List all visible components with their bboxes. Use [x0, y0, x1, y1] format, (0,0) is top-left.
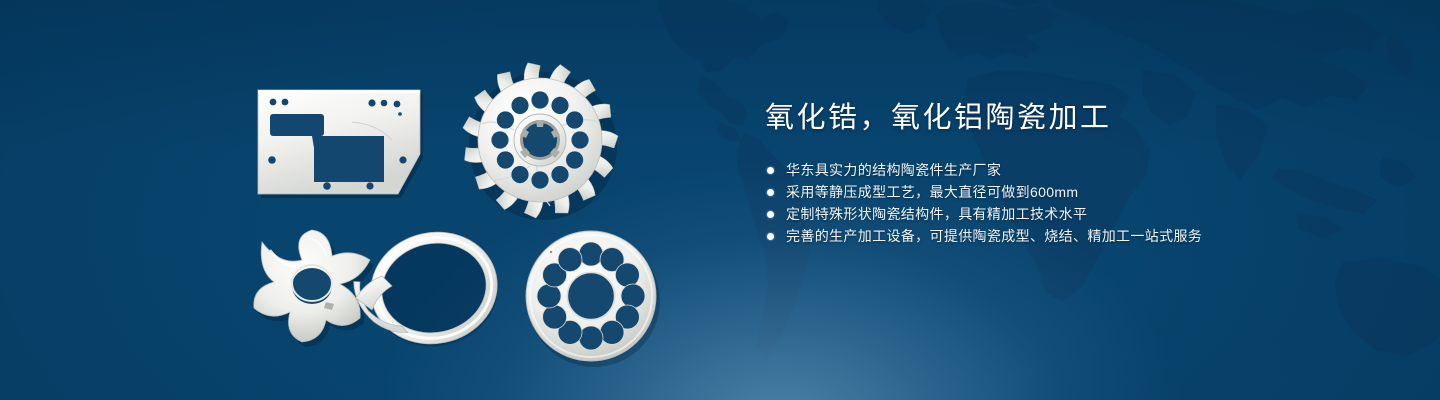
ceramic-impeller-vaned-disc [452, 52, 628, 228]
product-photo-group [0, 0, 760, 400]
feature-item-3: 定制特殊形状陶瓷结构件，具有精加工技术水平 [765, 203, 1385, 225]
feature-item-1: 华东具实力的结构陶瓷件生产厂家 [765, 159, 1385, 181]
ceramic-plate-with-cutouts [252, 82, 432, 202]
ceramic-perforated-disc [521, 226, 661, 366]
banner-copy: 氧化锆，氧化铝陶瓷加工 华东具实力的结构陶瓷件生产厂家 采用等静压成型工艺，最大… [765, 104, 1385, 247]
bullet-dot-icon [767, 189, 774, 196]
feature-list: 华东具实力的结构陶瓷件生产厂家 采用等静压成型工艺，最大直径可做到600mm 定… [765, 159, 1385, 247]
bullet-dot-icon [767, 233, 774, 240]
feature-item-4: 完善的生产加工设备，可提供陶瓷成型、烧结、精加工一站式服务 [765, 225, 1385, 247]
promo-banner: 氧化锆，氧化铝陶瓷加工 华东具实力的结构陶瓷件生产厂家 采用等静压成型工艺，最大… [0, 0, 1440, 400]
feature-text: 采用等静压成型工艺，最大直径可做到600mm [786, 182, 1078, 202]
feature-text: 华东具实力的结构陶瓷件生产厂家 [786, 160, 1001, 180]
feature-text: 完善的生产加工设备，可提供陶瓷成型、烧结、精加工一站式服务 [786, 226, 1202, 246]
feature-item-2: 采用等静压成型工艺，最大直径可做到600mm [765, 181, 1385, 203]
ceramic-thin-ring [352, 228, 522, 348]
bullet-dot-icon [767, 211, 774, 218]
feature-text: 定制特殊形状陶瓷结构件，具有精加工技术水平 [786, 204, 1087, 224]
bullet-dot-icon [767, 167, 774, 174]
banner-title: 氧化锆，氧化铝陶瓷加工 [765, 104, 1385, 133]
